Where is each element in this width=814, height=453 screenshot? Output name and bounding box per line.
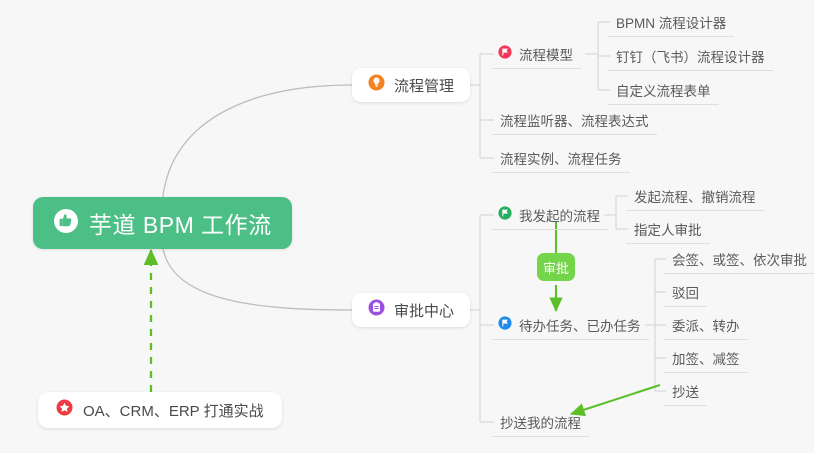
root-label: 芋道 BPM 工作流 <box>89 206 272 240</box>
node-todo-done-tasks[interactable]: 待办任务、已办任务 <box>492 311 649 340</box>
node-label-start-cancel-process: 发起流程、撤销流程 <box>634 186 756 206</box>
approval-badge: 审批 <box>537 253 575 281</box>
node-label-countersign: 会签、或签、依次审批 <box>672 249 807 269</box>
node-start-cancel-process[interactable]: 发起流程、撤销流程 <box>626 182 764 211</box>
lightbulb-pin-icon <box>368 74 385 96</box>
node-dingtalk-designer[interactable]: 钉钉（飞书）流程设计器 <box>608 42 773 71</box>
callout-label-integration: OA、CRM、ERP 打通实战 <box>83 400 264 421</box>
node-custom-form[interactable]: 自定义流程表单 <box>608 76 719 105</box>
node-label-reject: 驳回 <box>672 282 699 302</box>
branch-label-process-management: 流程管理 <box>394 75 454 96</box>
connector-root-to-approval-center <box>162 243 352 310</box>
branch-node-approval-center[interactable]: 审批中心 <box>352 293 470 327</box>
callout-card-integration[interactable]: OA、CRM、ERP 打通实战 <box>38 392 282 428</box>
mindmap-canvas: 芋道 BPM 工作流 流程管理 流程模型 BPMN 流程设计器 钉钉（飞书）流程… <box>0 0 814 453</box>
node-bpmn-designer[interactable]: BPMN 流程设计器 <box>608 8 734 37</box>
node-my-initiated-processes[interactable]: 我发起的流程 <box>492 201 608 230</box>
flag-icon <box>498 45 512 64</box>
branch-node-process-management[interactable]: 流程管理 <box>352 68 470 102</box>
node-process-model[interactable]: 流程模型 <box>492 40 581 69</box>
node-reject[interactable]: 驳回 <box>664 278 707 307</box>
node-label-bpmn-designer: BPMN 流程设计器 <box>616 12 726 32</box>
approval-badge-label: 审批 <box>543 258 569 277</box>
node-label-dingtalk-designer: 钉钉（飞书）流程设计器 <box>616 46 765 66</box>
node-label-add-remove-sign: 加签、减签 <box>672 348 740 368</box>
node-add-remove-sign[interactable]: 加签、减签 <box>664 344 748 373</box>
flag-icon <box>498 206 512 225</box>
node-label-delegate-transfer: 委派、转办 <box>672 315 740 335</box>
node-label-cc: 抄送 <box>672 381 699 401</box>
root-node[interactable]: 芋道 BPM 工作流 <box>33 197 292 249</box>
node-countersign[interactable]: 会签、或签、依次审批 <box>664 245 814 274</box>
branch-label-approval-center: 审批中心 <box>394 300 454 321</box>
node-delegate-transfer[interactable]: 委派、转办 <box>664 311 748 340</box>
node-process-listener[interactable]: 流程监听器、流程表达式 <box>492 106 657 135</box>
node-assigned-approver[interactable]: 指定人审批 <box>626 215 710 244</box>
node-cc[interactable]: 抄送 <box>664 377 707 406</box>
node-process-instance[interactable]: 流程实例、流程任务 <box>492 144 630 173</box>
node-label-process-listener: 流程监听器、流程表达式 <box>500 110 649 130</box>
node-label-process-model: 流程模型 <box>519 44 573 64</box>
node-label-my-initiated-processes: 我发起的流程 <box>519 205 600 225</box>
star-icon <box>56 399 73 421</box>
flag-icon <box>498 316 512 335</box>
node-label-process-instance: 流程实例、流程任务 <box>500 148 622 168</box>
node-label-assigned-approver: 指定人审批 <box>634 219 702 239</box>
node-label-todo-done-tasks: 待办任务、已办任务 <box>519 315 641 335</box>
node-label-custom-form: 自定义流程表单 <box>616 80 711 100</box>
node-cc-to-me[interactable]: 抄送我的流程 <box>492 408 589 437</box>
connector-root-to-process-mgmt <box>162 85 352 205</box>
clipboard-icon <box>368 299 385 321</box>
thumbs-up-icon <box>53 208 79 239</box>
node-label-cc-to-me: 抄送我的流程 <box>500 412 581 432</box>
